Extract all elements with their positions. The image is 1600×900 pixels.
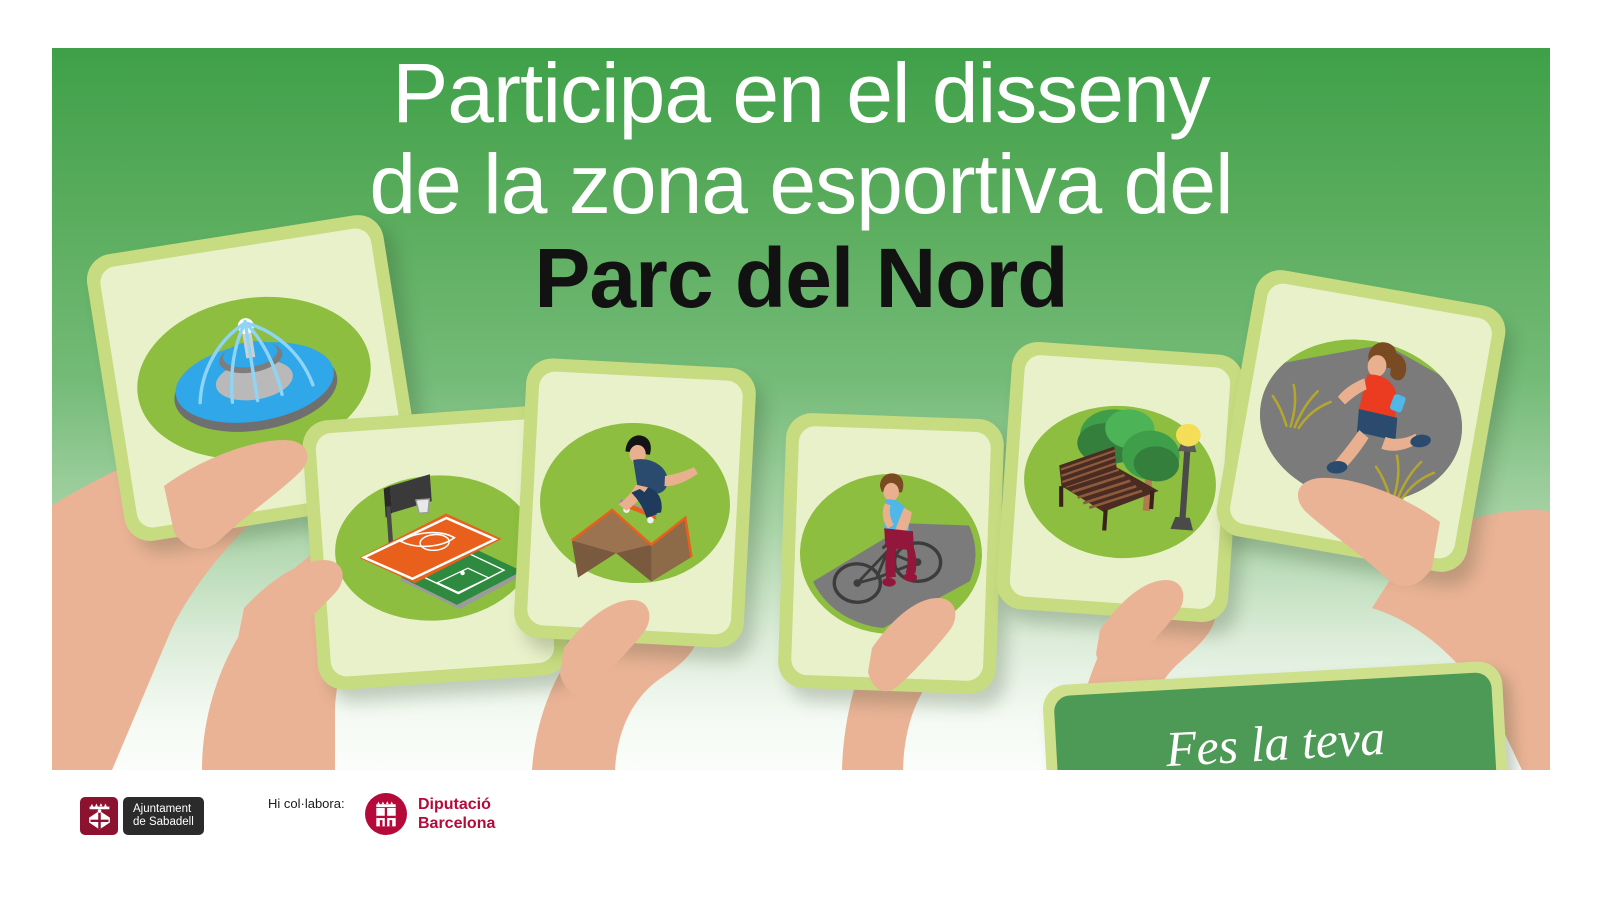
diputacio-line-1: Diputació — [418, 796, 491, 813]
logo-ajuntament-sabadell[interactable]: Ajuntament de Sabadell — [80, 797, 204, 835]
cta-line-1: Fes la teva — [1164, 709, 1386, 770]
diputacio-name-block: Diputació Barcelona — [418, 795, 495, 833]
card-cycling[interactable] — [777, 412, 1004, 694]
card-skate-ramp[interactable] — [513, 357, 757, 649]
collaborate-label: Hi col·labora: — [268, 796, 345, 811]
cta-inner: Fes la teva aportació! — [1053, 672, 1500, 770]
logo-diputacio-barcelona[interactable]: Diputació Barcelona — [365, 793, 495, 835]
card-running-inner — [1228, 281, 1495, 561]
footer-bar — [0, 770, 1600, 900]
banner-panel: Participa en el disseny de la zona espor… — [52, 48, 1550, 770]
card-running[interactable] — [1212, 266, 1509, 576]
sabadell-crest-icon — [80, 797, 118, 835]
ajuntament-line-2: de Sabadell — [133, 816, 194, 830]
card-bench-trees-inner — [1009, 354, 1231, 610]
cyclist-icon — [791, 426, 992, 682]
card-bench-trees[interactable] — [995, 340, 1245, 624]
cta-text-block: Fes la teva aportació! — [1146, 706, 1408, 770]
ajuntament-line-1: Ajuntament — [133, 803, 194, 817]
ajuntament-name-block: Ajuntament de Sabadell — [123, 797, 204, 835]
poster-stage: Participa en el disseny de la zona espor… — [0, 0, 1600, 900]
runner-icon — [1228, 281, 1495, 561]
card-cycling-inner — [791, 426, 992, 682]
card-skate-ramp-inner — [526, 371, 743, 635]
park-bench-icon — [1009, 354, 1231, 610]
diputacio-crest-icon — [365, 793, 407, 835]
diputacio-line-2: Barcelona — [418, 815, 495, 832]
skateboarder-icon — [526, 371, 743, 635]
